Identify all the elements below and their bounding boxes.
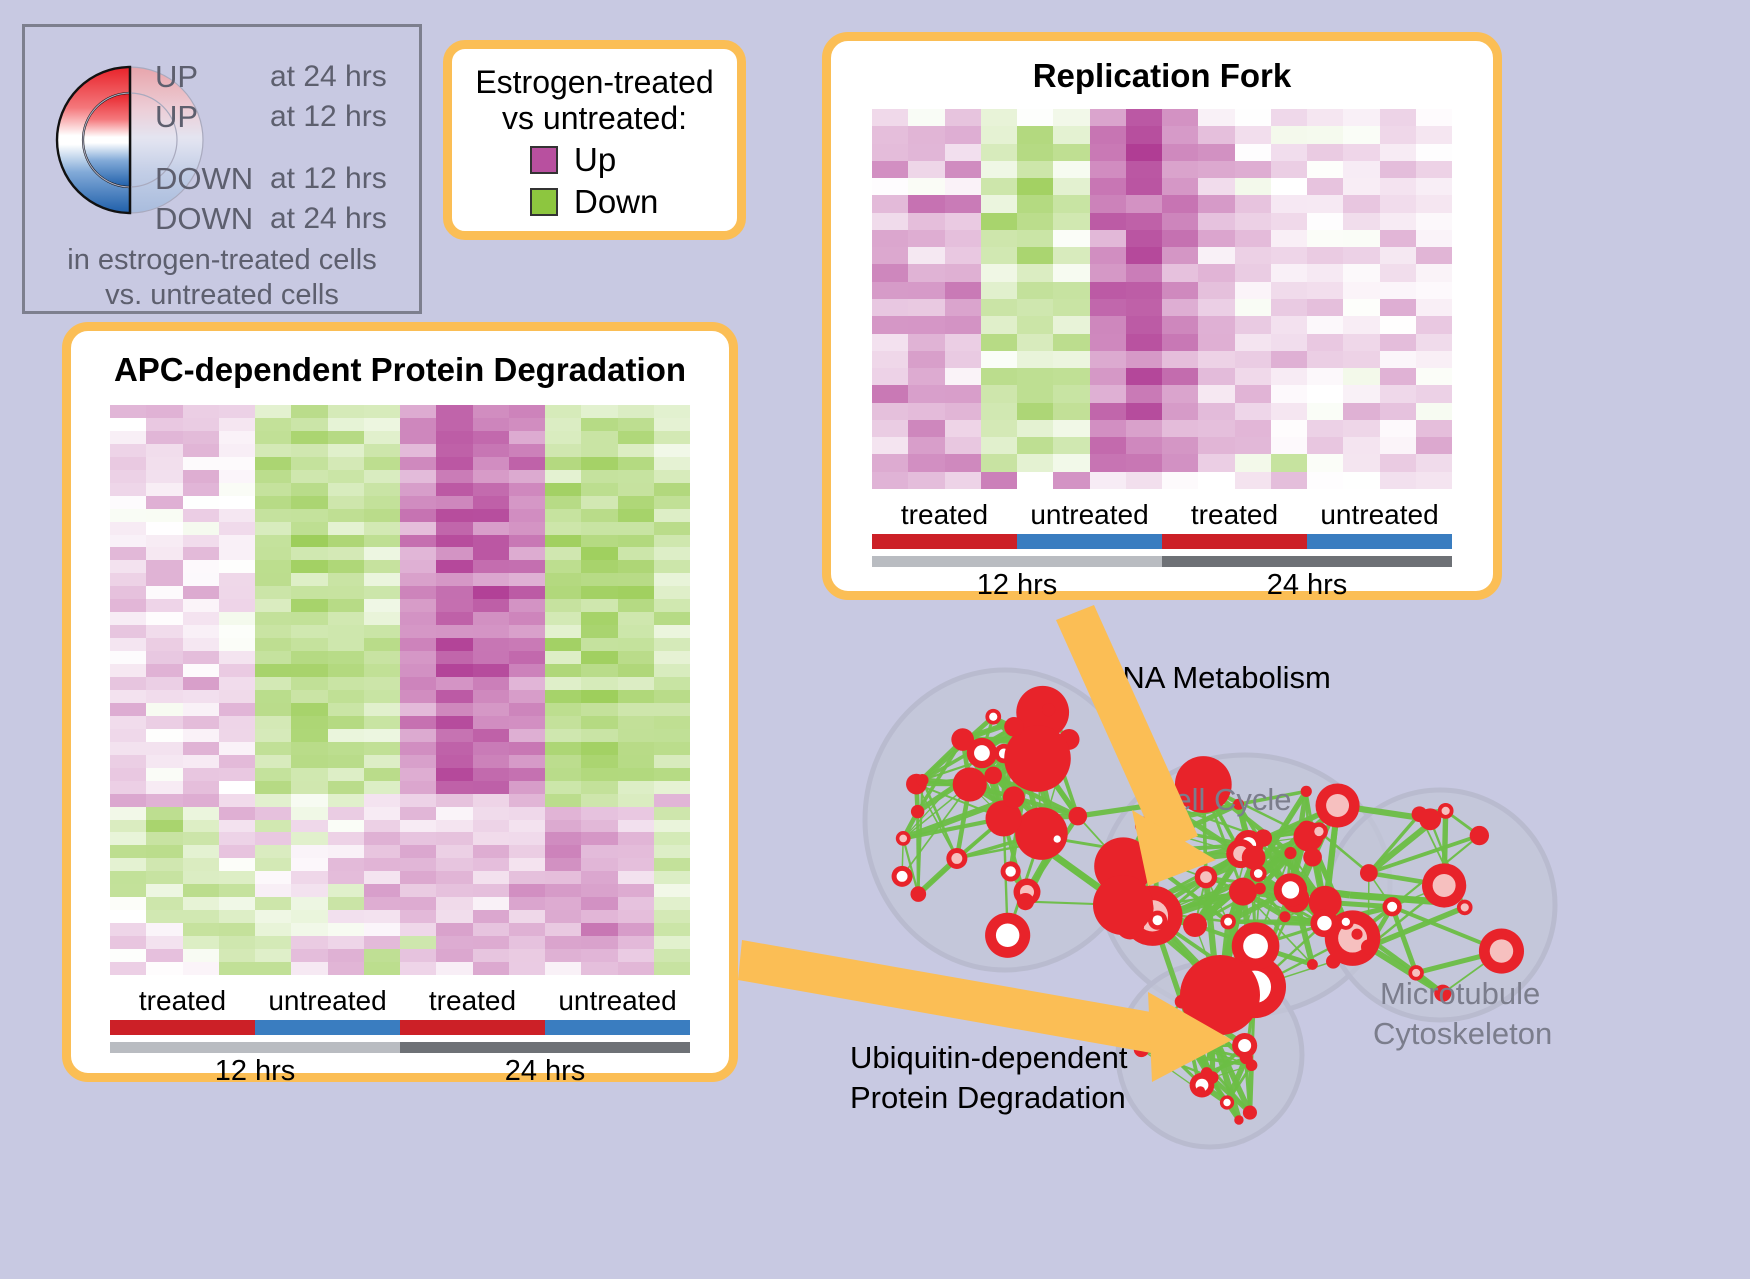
heatmap-cell: [618, 431, 654, 444]
network-node-core: [1314, 827, 1323, 836]
legend-item-down: Down: [452, 183, 737, 221]
heatmap-cell: [581, 405, 617, 418]
heatmap-cell: [110, 832, 146, 845]
heatmap-cell: [1380, 351, 1416, 368]
down-swatch: [530, 188, 558, 216]
heatmap-cell: [872, 195, 908, 212]
heatmap-cell: [146, 483, 182, 496]
heatmap-cell: [654, 509, 690, 522]
network-diagram: DNA Metabolism Cell Cycle Microtubule Cy…: [790, 610, 1750, 1279]
heatmap-cell: [618, 858, 654, 871]
heatmap-cell: [183, 664, 219, 677]
heatmap-cell: [908, 178, 944, 195]
heatmap-cell: [400, 845, 436, 858]
heatmap-cell: [618, 599, 654, 612]
heatmap-cell: [219, 729, 255, 742]
heatmap-cell: [364, 651, 400, 664]
heatmap-cell: [436, 431, 472, 444]
heatmap-cell: [146, 832, 182, 845]
heatmap-cell: [473, 781, 509, 794]
heatmap-cell: [908, 420, 944, 437]
heatmap-cell: [981, 420, 1017, 437]
heatmap-cell: [436, 509, 472, 522]
heatmap-cell: [110, 716, 146, 729]
heatmap-cell: [1235, 109, 1271, 126]
heatmap-cell: [291, 651, 327, 664]
heatmap-cell: [1380, 403, 1416, 420]
heatmap-cell: [509, 457, 545, 470]
heatmap-cell: [1162, 316, 1198, 333]
heatmap-cell: [328, 573, 364, 586]
heatmap-cell: [545, 871, 581, 884]
heatmap-cell: [1307, 178, 1343, 195]
heatmap-cell: [1162, 437, 1198, 454]
heatmap-cell: [654, 444, 690, 457]
heatmap-cell: [364, 522, 400, 535]
heatmap-cell: [219, 496, 255, 509]
network-node: [1243, 1106, 1257, 1120]
heatmap-cell: [509, 794, 545, 807]
heatmap-cell: [654, 962, 690, 975]
heatmap-cell: [400, 897, 436, 910]
heatmap-cell: [1053, 299, 1089, 316]
heatmap-cell: [1416, 299, 1452, 316]
heatmap-cell: [981, 247, 1017, 264]
heatmap-cell: [981, 403, 1017, 420]
heatmap-cell: [183, 444, 219, 457]
heatmap-cell: [1126, 247, 1162, 264]
heatmap-cell: [509, 599, 545, 612]
heatmap-cell: [618, 496, 654, 509]
heatmap-cell: [364, 560, 400, 573]
heatmap-cell: [581, 612, 617, 625]
heatmap-cell: [1307, 368, 1343, 385]
heatmap-cell: [1198, 178, 1234, 195]
heatmap-cell: [1017, 126, 1053, 143]
condition-label: untreated: [1017, 499, 1162, 531]
heatmap-cell: [255, 871, 291, 884]
heatmap-cell: [110, 418, 146, 431]
heatmap-cell: [1017, 161, 1053, 178]
heatmap-cell: [110, 573, 146, 586]
heatmap-cell: [618, 949, 654, 962]
heatmap-cell: [400, 768, 436, 781]
heatmap-cell: [473, 483, 509, 496]
heatmap-cell: [436, 690, 472, 703]
heatmap-cell: [328, 755, 364, 768]
heatmap-cell: [146, 522, 182, 535]
heatmap-cell: [581, 962, 617, 975]
heatmap-cell: [872, 126, 908, 143]
heatmap-cell: [545, 612, 581, 625]
heatmap-cell: [509, 936, 545, 949]
heatmap-cell: [1416, 403, 1452, 420]
heatmap-cell: [618, 664, 654, 677]
heatmap-cell: [1090, 385, 1126, 402]
heatmap-cell: [328, 729, 364, 742]
heatmap-cell: [581, 535, 617, 548]
heatmap-cell: [146, 651, 182, 664]
network-node: [1003, 786, 1025, 808]
heatmap-cell: [654, 664, 690, 677]
heatmap-cell: [328, 832, 364, 845]
heatmap-cell: [981, 230, 1017, 247]
heatmap-cell: [509, 923, 545, 936]
heatmap-cell: [872, 385, 908, 402]
heatmap-cell: [618, 418, 654, 431]
heatmap-cell: [219, 560, 255, 573]
network-node-core: [1254, 869, 1263, 878]
heatmap-cell: [1162, 247, 1198, 264]
heatmap-cell: [146, 405, 182, 418]
heatmap-cell: [364, 573, 400, 586]
heatmap-cell: [328, 858, 364, 871]
heatmap-cell: [545, 807, 581, 820]
heatmap-cell: [183, 470, 219, 483]
heatmap-cell: [1416, 178, 1452, 195]
heatmap-cell: [581, 703, 617, 716]
heatmap-cell: [1126, 264, 1162, 281]
heatmap-cell: [1198, 213, 1234, 230]
heatmap-cell: [618, 794, 654, 807]
heatmap-cell: [436, 677, 472, 690]
heatmap-cell: [618, 405, 654, 418]
heatmap-cell: [255, 496, 291, 509]
heatmap-cell: [183, 858, 219, 871]
heatmap-cell: [618, 910, 654, 923]
heatmap-cell: [872, 161, 908, 178]
timepoint-label: at 12 hrs: [270, 100, 387, 134]
timepoint-bar-segment: [400, 1042, 690, 1053]
heatmap-cell: [1126, 126, 1162, 143]
heatmap-cell: [364, 923, 400, 936]
heatmap-cell: [255, 573, 291, 586]
heatmap-cell: [110, 949, 146, 962]
heatmap-cell: [291, 742, 327, 755]
heatmap-cell: [183, 651, 219, 664]
heatmap-cell: [1307, 213, 1343, 230]
heatmap-cell: [545, 910, 581, 923]
network-node-core: [1238, 1039, 1251, 1052]
heatmap-cell: [400, 949, 436, 962]
heatmap-cell: [1271, 299, 1307, 316]
heatmap-cell: [291, 483, 327, 496]
heatmap-cell: [1053, 368, 1089, 385]
heatmap-cell: [364, 405, 400, 418]
heatmap-cell: [400, 923, 436, 936]
heatmap-cell: [473, 586, 509, 599]
timepoint-labels: 12 hrs24 hrs: [110, 1055, 690, 1088]
heatmap-cell: [400, 535, 436, 548]
heatmap-cell: [908, 213, 944, 230]
heatmap-cell: [581, 418, 617, 431]
heatmap-cell: [509, 573, 545, 586]
heatmap-cell: [364, 509, 400, 522]
heatmap-cell: [146, 535, 182, 548]
heatmap-cell: [581, 742, 617, 755]
heatmap-cell: [509, 807, 545, 820]
heatmap-cell: [581, 470, 617, 483]
heatmap-cell: [654, 638, 690, 651]
heatmap-cell: [473, 522, 509, 535]
heatmap-cell: [581, 586, 617, 599]
heatmap-cell: [945, 368, 981, 385]
heatmap-cell: [110, 547, 146, 560]
heatmap-cell: [1307, 334, 1343, 351]
heatmap-cell: [364, 781, 400, 794]
heatmap-cell: [509, 845, 545, 858]
heatmap-cell: [400, 638, 436, 651]
heatmap-cell: [291, 496, 327, 509]
heatmap-cell: [545, 418, 581, 431]
heatmap-cell: [183, 703, 219, 716]
heatmap-cell: [1198, 454, 1234, 471]
heatmap-cell: [1416, 454, 1452, 471]
timepoint-bar-segment: [872, 556, 1162, 567]
heatmap-cell: [436, 768, 472, 781]
heatmap-cell: [1343, 282, 1379, 299]
heatmap-cell: [219, 768, 255, 781]
heatmap-cell: [328, 444, 364, 457]
heatmap-cell: [400, 884, 436, 897]
heatmap-cell: [1343, 454, 1379, 471]
heatmap-cell: [436, 651, 472, 664]
network-node-core: [899, 835, 907, 843]
heatmap-cell: [618, 729, 654, 742]
heatmap-cell: [545, 444, 581, 457]
heatmap-cell: [291, 884, 327, 897]
heatmap-cell: [110, 690, 146, 703]
heatmap-cell: [1053, 144, 1089, 161]
heatmap-cell: [473, 405, 509, 418]
heatmap-cell: [1307, 126, 1343, 143]
heatmap-cell: [436, 794, 472, 807]
heatmap-cell: [364, 418, 400, 431]
heatmap-cell: [146, 444, 182, 457]
heatmap-cell: [872, 472, 908, 489]
heatmap-cell: [183, 807, 219, 820]
heatmap-cell: [255, 845, 291, 858]
timepoint-bar-segment: [1162, 556, 1452, 567]
heatmap-cell: [618, 755, 654, 768]
heatmap-cell: [219, 690, 255, 703]
heatmap-cell: [1053, 420, 1089, 437]
heatmap-cell: [436, 897, 472, 910]
heatmap-cell: [1416, 334, 1452, 351]
heatmap-cell: [1307, 316, 1343, 333]
heatmap-cell: [219, 509, 255, 522]
heatmap-cell: [618, 677, 654, 690]
heatmap-cell: [1235, 247, 1271, 264]
heatmap-cell: [618, 897, 654, 910]
heatmap-cell: [110, 405, 146, 418]
heatmap-cell: [1380, 195, 1416, 212]
timepoint-label: 12 hrs: [110, 1055, 400, 1088]
heatmap-cell: [328, 651, 364, 664]
heatmap-cell: [473, 431, 509, 444]
cluster-label-ubiquitin-line-2: Protein Degradation: [850, 1080, 1126, 1116]
heatmap-cell: [945, 334, 981, 351]
heatmap-cell: [1162, 472, 1198, 489]
heatmap-cell: [654, 690, 690, 703]
heatmap-cell: [473, 871, 509, 884]
heatmap-cell: [509, 560, 545, 573]
heatmap-cell: [1053, 161, 1089, 178]
heatmap-cell: [183, 742, 219, 755]
heatmap-cell: [291, 599, 327, 612]
heatmap-cell: [1053, 403, 1089, 420]
heatmap-cell: [1271, 351, 1307, 368]
heatmap-cell: [255, 832, 291, 845]
heatmap-cell: [981, 472, 1017, 489]
heatmap-cell: [110, 677, 146, 690]
heatmap-cell: [509, 418, 545, 431]
heatmap-cell: [945, 385, 981, 402]
heatmap-cell: [436, 858, 472, 871]
heatmap-cell: [618, 560, 654, 573]
heatmap-cell: [183, 716, 219, 729]
heatmap-cell: [618, 871, 654, 884]
heatmap-cell: [1307, 282, 1343, 299]
heatmap-cell: [654, 418, 690, 431]
heatmap-cell: [872, 230, 908, 247]
network-node-core: [1224, 918, 1232, 926]
heatmap-cell: [436, 496, 472, 509]
heatmap-cell: [581, 949, 617, 962]
heatmap-cell: [1126, 472, 1162, 489]
heatmap-cell: [219, 832, 255, 845]
heatmap-cell: [581, 781, 617, 794]
direction-label: DOWN: [155, 201, 270, 237]
heatmap-cell: [183, 897, 219, 910]
heatmap-cell: [654, 703, 690, 716]
heatmap-cell: [872, 351, 908, 368]
heatmap-cell: [1053, 264, 1089, 281]
heatmap-cell: [654, 845, 690, 858]
heatmap-cell: [400, 496, 436, 509]
heatmap-cell: [1017, 351, 1053, 368]
heatmap-cell: [146, 923, 182, 936]
heatmap-cell: [1198, 437, 1234, 454]
heatmap-cell: [1307, 161, 1343, 178]
heatmap-cell: [364, 664, 400, 677]
network-node: [1154, 1040, 1166, 1052]
network-node-core: [897, 871, 908, 882]
heatmap-cell: [328, 496, 364, 509]
heatmap-cell: [219, 742, 255, 755]
heatmap-cell: [908, 161, 944, 178]
heatmap-cell: [255, 612, 291, 625]
heatmap-cell: [219, 807, 255, 820]
heatmap-cell: [1235, 316, 1271, 333]
heatmap-cell: [545, 729, 581, 742]
network-node: [1183, 913, 1207, 937]
heatmap-cell: [545, 599, 581, 612]
heatmap-cell: [1416, 351, 1452, 368]
heatmap-cell: [436, 418, 472, 431]
network-node-core: [989, 713, 997, 721]
heatmap-cell: [364, 690, 400, 703]
heatmap-cell: [328, 910, 364, 923]
heatmap-cell: [255, 651, 291, 664]
heatmap-cell: [1380, 368, 1416, 385]
heatmap-cell: [1416, 126, 1452, 143]
heatmap-cell: [146, 573, 182, 586]
heatmap-cell: [183, 768, 219, 781]
cluster-label-microtubule-line-1: Microtubule: [1380, 976, 1540, 1012]
heatmap-cell: [654, 794, 690, 807]
heatmap-cell: [436, 832, 472, 845]
heatmap-cell: [1090, 334, 1126, 351]
network-node: [1068, 807, 1087, 826]
heatmap-cell: [1343, 299, 1379, 316]
heatmap-cell: [183, 729, 219, 742]
heatmap-cell: [981, 334, 1017, 351]
heatmap-cell: [1090, 282, 1126, 299]
heatmap-cell: [146, 547, 182, 560]
heatmap-cell: [981, 126, 1017, 143]
heatmap-cell: [436, 560, 472, 573]
heatmap-cell: [1343, 351, 1379, 368]
heatmap-cell: [908, 437, 944, 454]
heatmap-cell: [981, 299, 1017, 316]
heatmap-cell: [110, 768, 146, 781]
heatmap-cell: [1017, 454, 1053, 471]
heatmap-cell: [110, 664, 146, 677]
heatmap-cell: [509, 884, 545, 897]
heatmap-cell: [509, 444, 545, 457]
heatmap-cell: [1126, 144, 1162, 161]
heatmap-cell: [473, 742, 509, 755]
heatmap-cell: [581, 807, 617, 820]
heatmap-cell: [1271, 282, 1307, 299]
heatmap-cell: [945, 282, 981, 299]
heatmap-cell: [1090, 454, 1126, 471]
heatmap-cell: [291, 936, 327, 949]
network-node: [1303, 848, 1322, 867]
heatmap-cell: [1271, 454, 1307, 471]
direction-label: DOWN: [155, 161, 270, 197]
heatmap-cell: [1416, 385, 1452, 402]
heatmap-cell: [291, 677, 327, 690]
heatmap-cell: [110, 729, 146, 742]
heatmap-cell: [400, 612, 436, 625]
heatmap-cell: [1235, 126, 1271, 143]
heatmap-cell: [545, 457, 581, 470]
heatmap-cell: [291, 858, 327, 871]
heatmap-cell: [1380, 247, 1416, 264]
heatmap-cell: [981, 282, 1017, 299]
heatmap-cell: [328, 664, 364, 677]
heatmap-cell: [1416, 437, 1452, 454]
heatmap-cell: [110, 807, 146, 820]
legend-label-up: Up: [574, 141, 616, 179]
heatmap-cell: [545, 431, 581, 444]
heatmap-cell: [1198, 282, 1234, 299]
heatmap-cell: [364, 768, 400, 781]
heatmap-cell: [1343, 195, 1379, 212]
heatmap-cell: [473, 936, 509, 949]
heatmap-cell: [618, 807, 654, 820]
heatmap-cell: [545, 677, 581, 690]
network-node-core: [1054, 835, 1061, 842]
heatmap-cell: [618, 651, 654, 664]
heatmap-cell: [1416, 264, 1452, 281]
heatmap-cell: [110, 457, 146, 470]
heatmap-cell: [1343, 420, 1379, 437]
heatmap-cell: [654, 936, 690, 949]
heatmap-cell: [1380, 213, 1416, 230]
